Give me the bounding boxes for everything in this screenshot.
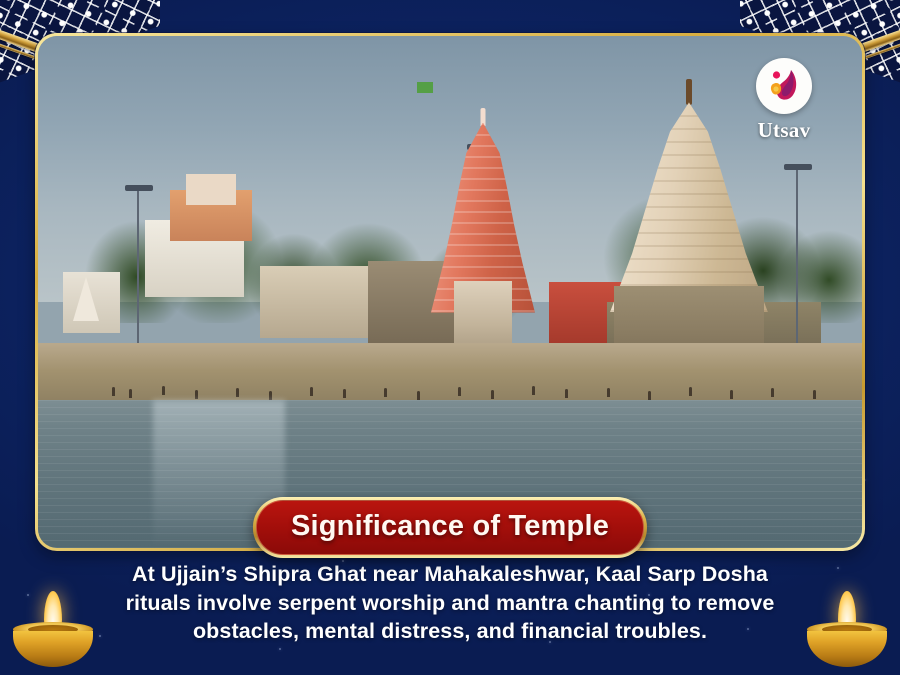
caption-block: At Ujjain’s Shipra Ghat near Mahakaleshw… — [62, 560, 838, 646]
kalash-finial-icon — [686, 79, 692, 105]
diya-bowl — [807, 631, 887, 667]
poster-card: Utsav Significance of Temple At Ujjain’s… — [0, 0, 900, 675]
brand-name: Utsav — [738, 118, 830, 143]
temple-base — [454, 281, 512, 353]
green-flag-icon — [417, 82, 433, 93]
pilgrims-group — [38, 359, 862, 405]
title-badge[interactable]: Significance of Temple — [253, 497, 647, 558]
title-badge-inner: Significance of Temple — [256, 500, 644, 555]
brand-logo[interactable]: Utsav — [738, 58, 830, 143]
page-title: Significance of Temple — [291, 512, 609, 541]
diya-lamp-right-icon — [804, 593, 890, 667]
lamp-post-right — [796, 169, 798, 343]
caption-line-1: At Ujjain’s Shipra Ghat near Mahakaleshw… — [62, 560, 838, 589]
diya-bowl — [13, 631, 93, 667]
lamp-post-left — [137, 190, 139, 354]
diya-lamp-left-icon — [10, 593, 96, 667]
pink-shikhara-temple — [423, 103, 543, 353]
photo-frame: Utsav — [35, 33, 865, 551]
caption-line-2: rituals involve serpent worship and mant… — [62, 589, 838, 618]
utsav-flame-logo-icon — [756, 58, 812, 114]
ghat-wall-left — [260, 266, 375, 338]
caption-line-3: obstacles, mental distress, and financia… — [62, 617, 838, 646]
small-spire-icon — [73, 277, 99, 321]
ghat-photograph: Utsav — [38, 36, 862, 548]
building-roof-cream — [186, 174, 235, 205]
